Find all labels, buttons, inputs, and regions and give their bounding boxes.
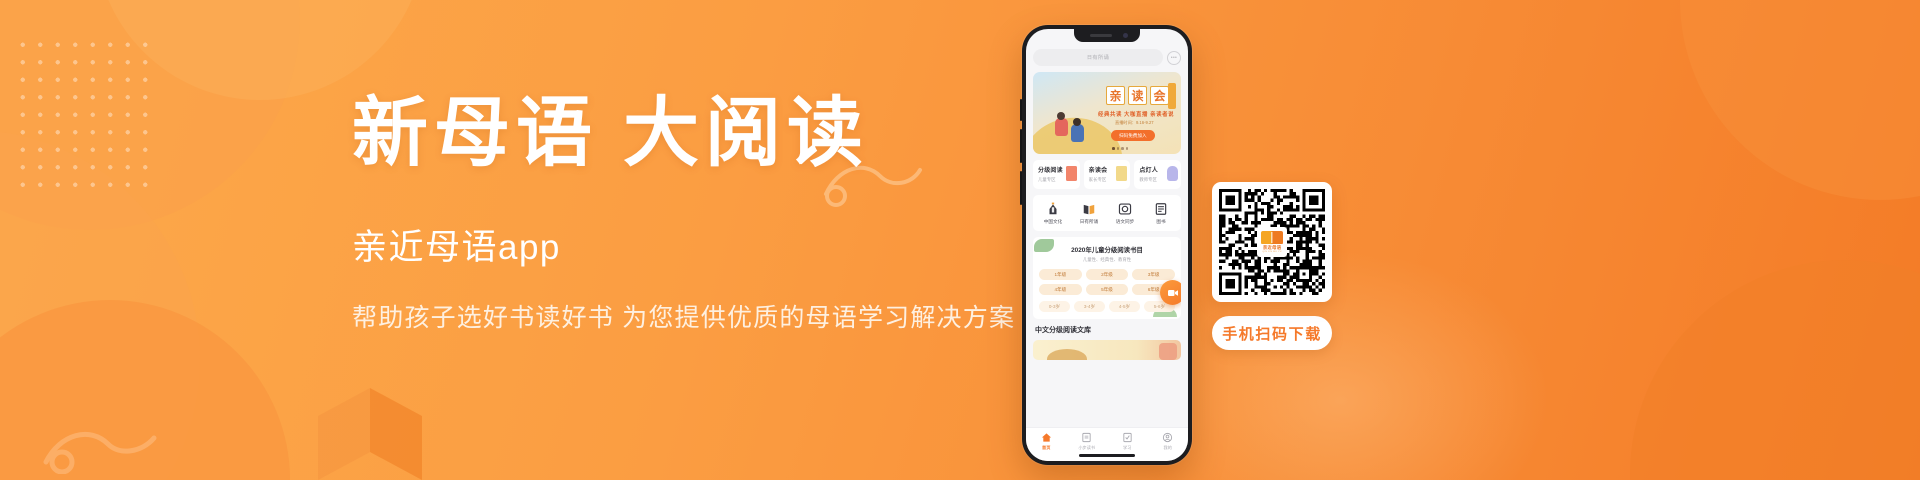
quick-item-label: 语文同步 (1107, 219, 1143, 225)
category-card-parent-club[interactable]: 亲读会 家长专区 (1084, 160, 1131, 189)
person-purple-icon (1167, 166, 1178, 181)
banner-ribbon-shape (1168, 83, 1176, 109)
decorative-blob-bottom-right (1630, 260, 1920, 480)
book-list-subtitle: 儿童性、经典性、教育性 (1039, 257, 1175, 263)
open-book-icon (1082, 202, 1096, 216)
decorative-blob-top-left (0, 0, 300, 230)
books-icon (1154, 202, 1168, 216)
grade-chip[interactable]: 1年级 (1039, 269, 1082, 280)
more-dots-icon[interactable]: ••• (1167, 51, 1181, 65)
tagline-text: 帮助孩子选好书读好书 为您提供优质的母语学习解决方案 (352, 298, 1052, 334)
read-icon (1081, 432, 1092, 443)
quick-item-textbook-sync[interactable]: 语文同步 (1107, 202, 1143, 225)
hero-text-block: 新母语 大阅读 亲近母语app 帮助孩子选好书读好书 为您提供优质的母语学习解决… (352, 92, 1052, 334)
grade-chip[interactable]: 4年级 (1039, 284, 1082, 295)
grade-chip[interactable]: 3年级 (1132, 269, 1175, 280)
tab-label: 我的 (1148, 445, 1189, 451)
tab-profile[interactable]: 我的 (1148, 432, 1189, 451)
lantern-icon (1046, 202, 1060, 216)
tab-home[interactable]: 首页 (1026, 432, 1067, 451)
search-input[interactable]: 日有所诵 (1033, 49, 1163, 66)
tab-study[interactable]: 学习 (1107, 432, 1148, 451)
home-icon (1041, 432, 1052, 443)
grade-chip-grid: 1年级 2年级 3年级 4年级 5年级 6年级 (1039, 269, 1175, 295)
study-icon (1122, 432, 1133, 443)
app-name-label: 亲近母语app (352, 219, 1052, 270)
banner-carousel-dots[interactable] (1112, 147, 1128, 150)
page-title: 新母语 大阅读 (352, 92, 1052, 177)
quick-item-daily-recite[interactable]: 日有所诵 (1071, 202, 1107, 225)
brand-logo: 亲近母语 QIN JIN MU YU (1257, 227, 1287, 257)
banner-cta-button[interactable]: 扫码免费加入 (1111, 130, 1155, 141)
logo-text-en: QIN JIN MU YU (1262, 251, 1281, 253)
book-list-title: 2020年儿童分级阅读书目 (1039, 245, 1175, 254)
banner-title-char: 读 (1128, 86, 1147, 105)
qr-code-card: 亲近母语 QIN JIN MU YU (1212, 182, 1332, 302)
decorative-blob-left-arc (0, 130, 200, 480)
download-button[interactable]: 手机扫码下载 (1212, 316, 1332, 350)
quick-item-books[interactable]: 图书 (1143, 202, 1179, 225)
quick-item-label: 图书 (1143, 219, 1179, 225)
book-list-card[interactable]: 2020年儿童分级阅读书目 儿童性、经典性、教育性 1年级 2年级 3年级 4年… (1033, 237, 1181, 319)
tab-label: 学习 (1107, 445, 1148, 451)
quick-item-label: 中国文化 (1035, 219, 1071, 225)
video-play-icon[interactable] (1160, 280, 1181, 305)
decorative-glow (1130, 250, 1550, 480)
category-card-row: 分级阅读 儿童专区 亲读会 家长专区 点灯人 教师专区 (1033, 160, 1181, 189)
home-indicator (1079, 454, 1135, 457)
library-preview-strip[interactable] (1033, 340, 1181, 360)
banner-child-figure-1 (1055, 118, 1068, 136)
promo-banner: 新母语 大阅读 亲近母语app 帮助孩子选好书读好书 为您提供优质的母语学习解决… (0, 0, 1920, 480)
phone-volume-down-button (1020, 171, 1022, 205)
phone-mute-button (1020, 99, 1022, 121)
decorative-dot-grid (14, 36, 152, 200)
banner-title-chars: 亲 读 会 (1106, 86, 1169, 105)
camera-icon (1118, 202, 1132, 216)
age-chip[interactable]: 0-3岁 (1039, 301, 1070, 312)
quick-item-label: 日有所诵 (1071, 219, 1107, 225)
decorative-cube-shape (318, 388, 422, 480)
user-icon (1162, 432, 1173, 443)
phone-volume-up-button (1020, 129, 1022, 163)
app-promo-banner[interactable]: 亲 读 会 经典共读 大咖直播 亲读者说 直播时间：9.16-9.27 扫码免费… (1033, 72, 1181, 154)
phone-notch (1074, 29, 1140, 42)
tab-reading[interactable]: 小步读书 (1067, 432, 1108, 451)
age-chip[interactable]: 3-4岁 (1074, 301, 1105, 312)
decorative-blob-top-right (1680, 0, 1920, 200)
app-search-row: 日有所诵 ••• (1033, 49, 1181, 66)
banner-date-text: 直播时间：9.16-9.27 (1115, 120, 1154, 126)
quick-item-chinese-culture[interactable]: 中国文化 (1035, 202, 1071, 225)
age-chip-grid: 0-3岁 3-4岁 4-5岁 5-6岁 (1039, 301, 1175, 312)
decorative-blob-bottom-left (0, 300, 290, 480)
category-card-teacher[interactable]: 点灯人 教师专区 (1134, 160, 1181, 189)
banner-child-figure-2 (1071, 124, 1084, 142)
decorative-cloud-left (42, 412, 160, 474)
age-chip[interactable]: 4-5岁 (1109, 301, 1140, 312)
book-yellow-icon (1116, 166, 1127, 181)
grade-chip[interactable]: 2年级 (1086, 269, 1129, 280)
library-section-title: 中文分级阅读文库 (1035, 325, 1181, 335)
category-card-graded-reading[interactable]: 分级阅读 儿童专区 (1033, 160, 1080, 189)
app-screen-content: 日有所诵 ••• 亲 读 会 经典共读 大咖直播 亲读者说 直播时间：9.1 (1026, 29, 1188, 461)
open-book-logo-icon (1261, 231, 1283, 244)
qr-download-block: 亲近母语 QIN JIN MU YU 手机扫码下载 (1212, 182, 1332, 350)
quick-icon-row: 中国文化 日有所诵 (1033, 195, 1181, 231)
phone-screen: 日有所诵 ••• 亲 读 会 经典共读 大咖直播 亲读者说 直播时间：9.1 (1026, 29, 1188, 461)
banner-title-char: 会 (1150, 86, 1169, 105)
tab-label: 首页 (1026, 445, 1067, 451)
banner-title-char: 亲 (1106, 86, 1125, 105)
book-red-icon (1066, 166, 1077, 181)
decorative-blob-top-left-2 (95, 0, 425, 100)
tab-label: 小步读书 (1067, 445, 1108, 451)
grade-chip[interactable]: 5年级 (1086, 284, 1129, 295)
phone-mockup: 日有所诵 ••• 亲 读 会 经典共读 大咖直播 亲读者说 直播时间：9.1 (1022, 25, 1192, 465)
banner-subtitle: 经典共读 大咖直播 亲读者说 (1098, 110, 1174, 118)
